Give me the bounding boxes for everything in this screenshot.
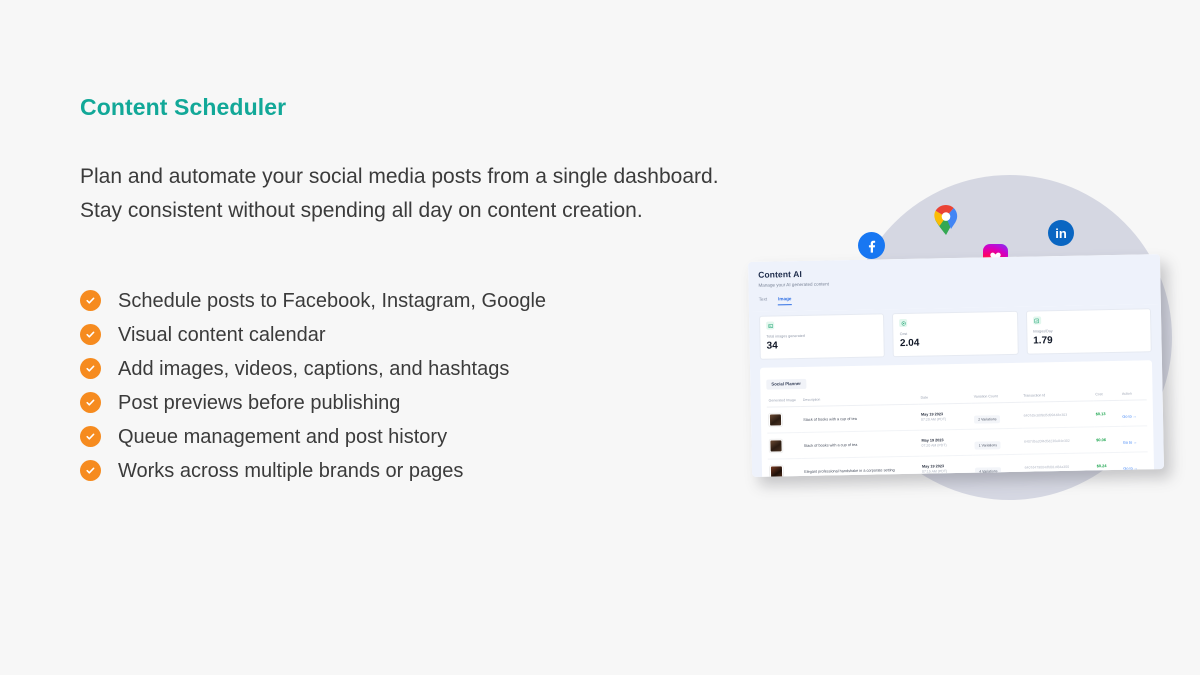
column-header-action: Action (1120, 388, 1147, 400)
list-item: Add images, videos, captions, and hashta… (80, 352, 750, 386)
cell-date: May 19 2023 07:20 AM (PDT) (919, 429, 973, 456)
stat-card-cost: Cost 2.04 (892, 311, 1018, 357)
column-header-generated-image: Generated Image (767, 395, 801, 407)
list-item-label: Add images, videos, captions, and hashta… (118, 359, 509, 379)
check-circle-icon (80, 460, 101, 481)
stat-label: Images/Day (1033, 327, 1144, 333)
cell-cost: $0.13 (1093, 400, 1120, 427)
stat-label: Total images generated (766, 332, 877, 338)
column-header-cost: Cost (1093, 389, 1120, 401)
variation-badge: 1 Variations (975, 441, 1001, 450)
stat-label: Cost (900, 330, 1011, 336)
stat-card-total-images: Total images generated 34 (759, 313, 885, 359)
check-circle-icon (80, 392, 101, 413)
cell-action: Go to → (1120, 400, 1147, 427)
check-circle-icon (80, 324, 101, 345)
content-ai-panel: Content AI Manage your AI generated cont… (748, 254, 1164, 477)
cell-description: Elegant professional handshake in a corp… (802, 456, 920, 477)
go-to-link[interactable]: Go to (1123, 466, 1132, 470)
arrow-right-icon: → (1133, 466, 1138, 470)
cell-variations: 2 Variations (972, 402, 1022, 429)
cell-variations: 1 Variations (972, 428, 1022, 455)
list-item: Queue management and post history (80, 420, 750, 454)
chart-icon (1033, 316, 1041, 324)
cell-description: Stack of books with a cup of tea (801, 430, 919, 458)
list-item-label: Queue management and post history (118, 427, 447, 447)
feature-list: Schedule posts to Facebook, Instagram, G… (80, 284, 750, 488)
section-chip[interactable]: Social Planner (766, 378, 806, 389)
variation-badge: 2 Variations (974, 415, 1000, 424)
social-planner-table: Social Planner Generated Image Descripti… (760, 360, 1154, 477)
cell-thumbnail (767, 432, 802, 459)
tab-image[interactable]: Image (778, 296, 791, 305)
list-item-label: Schedule posts to Facebook, Instagram, G… (118, 291, 546, 311)
coin-icon (899, 319, 907, 327)
image-icon (766, 321, 774, 329)
check-circle-icon (80, 426, 101, 447)
tab-text[interactable]: Text (759, 297, 768, 306)
row-time: 07:20 AM (PDT) (921, 417, 970, 422)
cell-action: Go to → (1121, 426, 1148, 453)
stat-card-images-per-day: Images/Day 1.79 (1026, 308, 1152, 354)
panel-tabs: Text Image (759, 289, 1151, 306)
dashboard-illustration: in Content AI Manage your AI generated c… (735, 150, 1185, 550)
list-item: Works across multiple brands or pages (80, 454, 750, 488)
arrow-right-icon: → (1132, 440, 1137, 444)
intro-paragraph: Plan and automate your social media post… (80, 160, 740, 228)
cell-transaction-id: 6407d5c80f8d5d99448e303 (1021, 401, 1094, 428)
cell-description: Stack of books with a cup of tea (801, 404, 919, 432)
stat-value: 34 (766, 338, 878, 351)
page-title: Content Scheduler (80, 94, 750, 122)
cell-thumbnail (767, 406, 802, 433)
generated-image-thumbnail[interactable] (769, 439, 782, 452)
column-header-variation-count: Variation Count (972, 391, 1022, 403)
list-item-label: Visual content calendar (118, 325, 326, 345)
left-content-column: Content Scheduler Plan and automate your… (80, 94, 750, 488)
check-circle-icon (80, 290, 101, 311)
list-item-label: Post previews before publishing (118, 393, 400, 413)
list-item: Post previews before publishing (80, 386, 750, 420)
linkedin-icon: in (1048, 220, 1074, 246)
facebook-icon (858, 232, 885, 259)
slide-root: Content Scheduler Plan and automate your… (0, 0, 1200, 675)
row-time: 07:20 AM (PDT) (921, 443, 970, 448)
panel-body: Total images generated 34 Cost 2.04 (749, 304, 1164, 477)
list-item: Schedule posts to Facebook, Instagram, G… (80, 284, 750, 318)
stat-value: 2.04 (900, 336, 1012, 349)
arrow-right-icon: → (1132, 414, 1137, 418)
list-item: Visual content calendar (80, 318, 750, 352)
cell-date: May 19 2023 07:20 AM (PDT) (919, 403, 973, 430)
stat-card-group: Total images generated 34 Cost 2.04 (759, 308, 1152, 360)
go-to-link[interactable]: Go to (1123, 440, 1132, 444)
cell-transaction-id: 6407d5a20f4d5d236e84e302 (1022, 427, 1095, 454)
google-maps-pin-icon (933, 204, 959, 236)
cell-thumbnail (768, 458, 803, 476)
generated-image-thumbnail[interactable] (769, 413, 782, 426)
check-circle-icon (80, 358, 101, 379)
generated-images-table: Generated Image Description Date Variati… (767, 388, 1149, 477)
list-item-label: Works across multiple brands or pages (118, 461, 463, 481)
cell-action: Go to → (1121, 452, 1148, 477)
stat-value: 1.79 (1033, 333, 1145, 346)
cell-cost: $0.06 (1094, 426, 1121, 453)
linkedin-label: in (1055, 226, 1067, 241)
panel-header: Content AI Manage your AI generated cont… (748, 254, 1161, 312)
go-to-link[interactable]: Go to (1122, 414, 1131, 418)
generated-image-thumbnail[interactable] (770, 465, 783, 477)
